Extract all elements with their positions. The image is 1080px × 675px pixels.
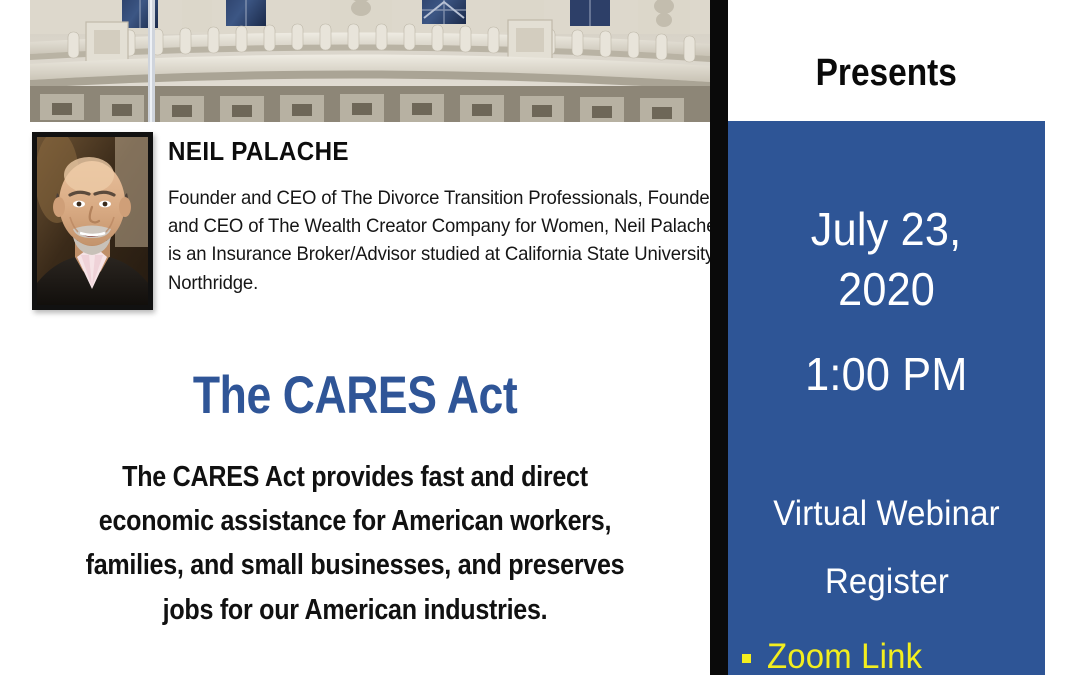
event-time: 1:00 PM (728, 351, 1045, 397)
speaker-text-block: NEIL PALACHE Founder and CEO of The Divo… (168, 138, 713, 297)
capitol-building-photo (30, 0, 710, 122)
presents-label: Presents (728, 52, 1045, 95)
event-format-text: Virtual Webinar (773, 496, 1000, 531)
event-date-line-2-text: 2020 (838, 266, 935, 312)
presents-text: Presents (816, 52, 957, 95)
zoom-link[interactable]: Zoom Link (762, 639, 927, 674)
speaker-name: NEIL PALACHE (168, 138, 675, 165)
webinar-poster: NEIL PALACHE Founder and CEO of The Divo… (0, 0, 1080, 675)
headshot-illustration (37, 137, 148, 305)
neil-palache-headshot (32, 132, 153, 310)
page-title: The CARES Act (0, 368, 710, 424)
event-details-panel: July 23, 2020 1:00 PM Virtual Webinar Re… (728, 121, 1045, 675)
event-date-line-1-text: July 23, (811, 206, 962, 252)
event-format-label: Virtual Webinar (728, 496, 1045, 531)
zoom-link-row[interactable]: Zoom Link (728, 639, 1045, 674)
headline-body: The CARES Act provides fast and direct e… (46, 455, 664, 632)
speaker-bio: Founder and CEO of The Divorce Transitio… (168, 184, 722, 296)
square-bullet-icon (742, 654, 751, 663)
event-date-line-1: July 23, (728, 206, 1045, 252)
vertical-divider (710, 0, 728, 675)
left-content-column: NEIL PALACHE Founder and CEO of The Divo… (0, 0, 710, 675)
register-text: Register (824, 564, 948, 599)
event-date-line-2: 2020 (728, 266, 1045, 312)
event-time-text: 1:00 PM (805, 351, 967, 397)
right-info-column: Presents July 23, 2020 1:00 PM Virtual W… (728, 0, 1045, 675)
headline-body-text: The CARES Act provides fast and direct e… (83, 455, 627, 632)
capitol-building-illustration (30, 0, 710, 122)
zoom-link-label: Zoom Link (767, 639, 922, 674)
page-title-text: The CARES Act (193, 368, 517, 424)
register-label: Register (728, 564, 1045, 599)
